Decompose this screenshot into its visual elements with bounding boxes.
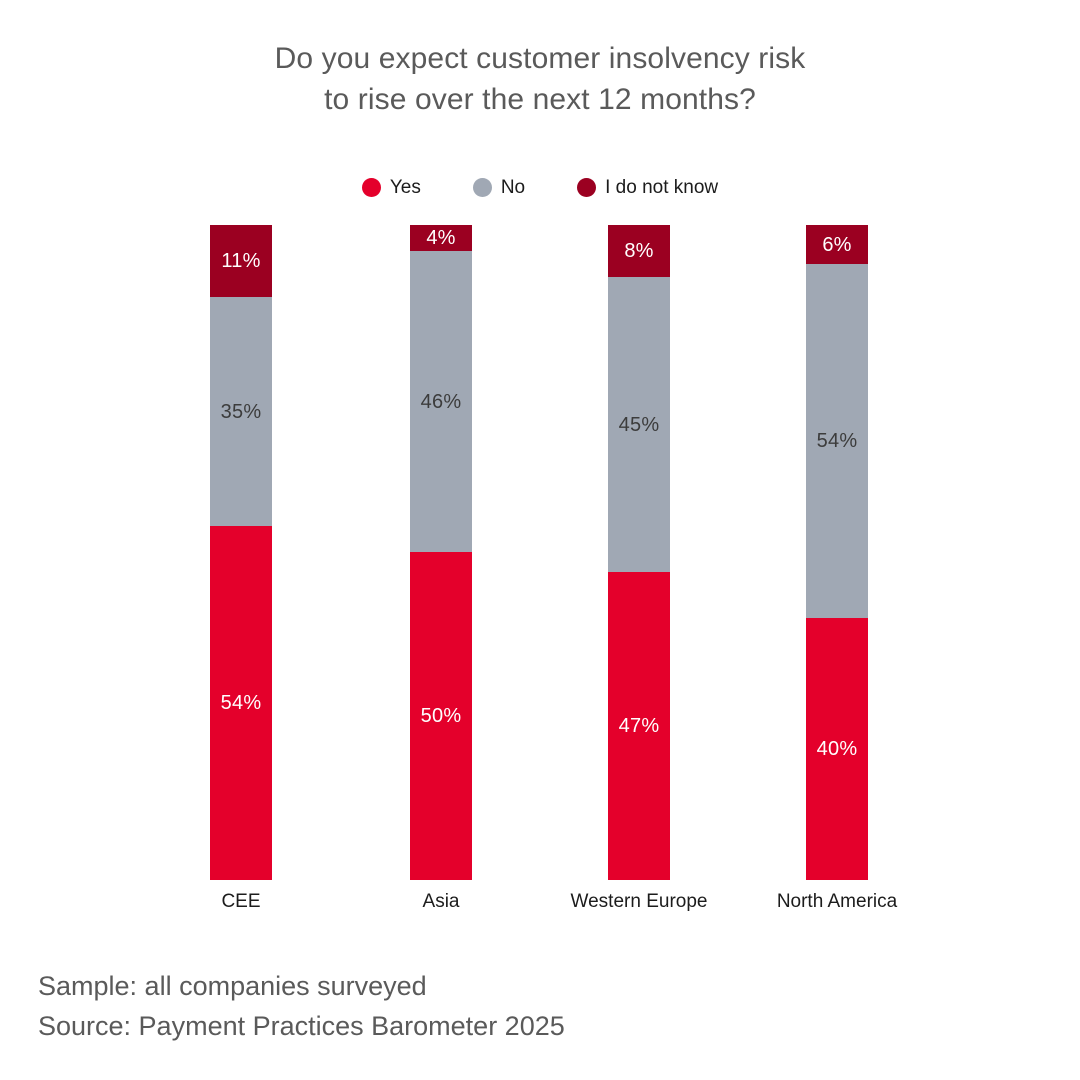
bar-segment-north-america-no[interactable]: 54% — [806, 264, 868, 618]
bar-segment-cee-i-do-not-know[interactable]: 11% — [210, 225, 272, 297]
bar-segment-asia-no[interactable]: 46% — [410, 251, 472, 552]
bar-segment-asia-i-do-not-know[interactable]: 4% — [410, 225, 472, 251]
bar-segment-value-north-america-yes: 40% — [817, 739, 858, 759]
bar-segment-value-western-europe-i-do-not-know: 8% — [624, 241, 653, 261]
bar-segment-western-europe-no[interactable]: 45% — [608, 277, 670, 572]
bar-segment-north-america-i-do-not-know[interactable]: 6% — [806, 225, 868, 264]
chart-plot-area: 11%35%54%CEE4%46%50%Asia8%45%47%Western … — [0, 0, 1080, 1080]
footnote-source: Source: Payment Practices Barometer 2025 — [38, 1006, 565, 1046]
bar-segment-asia-yes[interactable]: 50% — [410, 552, 472, 880]
category-label-asia: Asia — [423, 892, 460, 911]
bar-segment-value-cee-no: 35% — [221, 402, 262, 422]
bar-segment-value-cee-i-do-not-know: 11% — [221, 251, 260, 271]
bar-segment-value-cee-yes: 54% — [221, 693, 262, 713]
bar-segment-north-america-yes[interactable]: 40% — [806, 618, 868, 880]
bar-segment-value-north-america-no: 54% — [817, 431, 858, 451]
bar-segment-value-asia-yes: 50% — [421, 706, 462, 726]
bar-segment-western-europe-i-do-not-know[interactable]: 8% — [608, 225, 670, 277]
bar-asia[interactable]: 4%46%50% — [410, 225, 472, 880]
bar-segment-value-asia-no: 46% — [421, 392, 462, 412]
bar-segment-value-western-europe-no: 45% — [619, 415, 660, 435]
bar-cee[interactable]: 11%35%54% — [210, 225, 272, 880]
bar-segment-cee-no[interactable]: 35% — [210, 297, 272, 526]
bar-western-europe[interactable]: 8%45%47% — [608, 225, 670, 880]
bar-segment-value-asia-i-do-not-know: 4% — [426, 228, 455, 248]
bar-segment-cee-yes[interactable]: 54% — [210, 526, 272, 880]
category-label-north-america: North America — [777, 892, 897, 911]
bar-north-america[interactable]: 6%54%40% — [806, 225, 868, 880]
chart-footnote: Sample: all companies surveyed Source: P… — [38, 966, 565, 1046]
bar-segment-western-europe-yes[interactable]: 47% — [608, 572, 670, 880]
category-label-western-europe: Western Europe — [571, 892, 708, 911]
footnote-sample: Sample: all companies surveyed — [38, 966, 565, 1006]
bar-segment-value-north-america-i-do-not-know: 6% — [822, 235, 851, 255]
category-label-cee: CEE — [221, 892, 260, 911]
bar-segment-value-western-europe-yes: 47% — [619, 716, 660, 736]
